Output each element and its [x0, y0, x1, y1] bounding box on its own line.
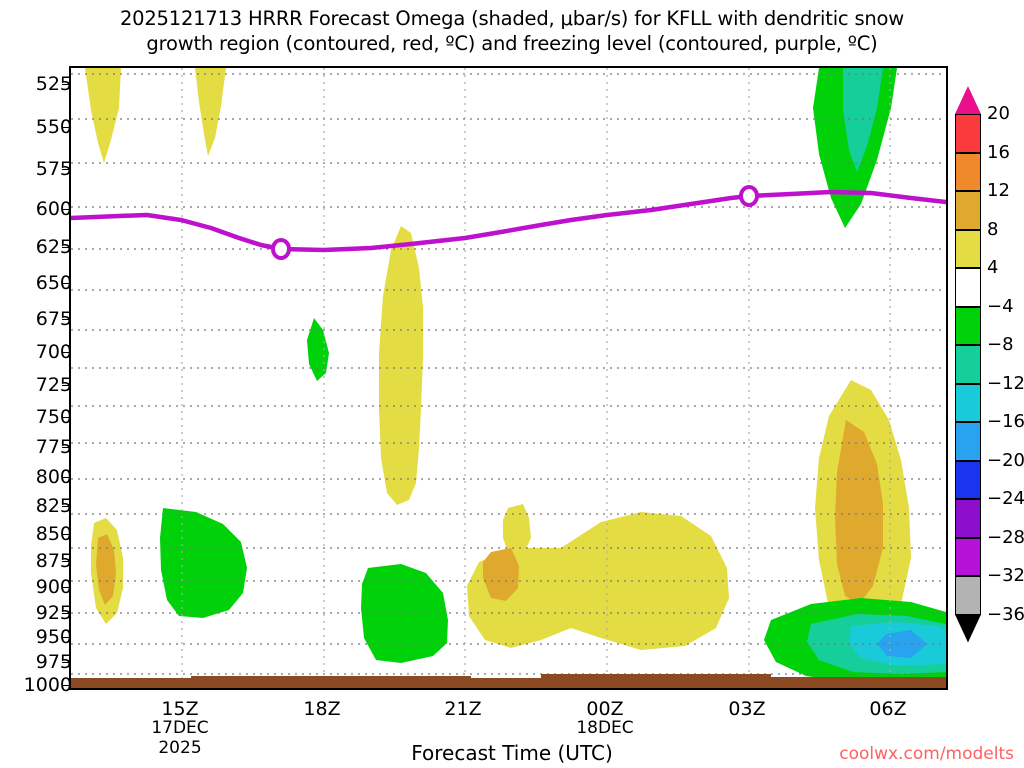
colorbar-band — [955, 422, 981, 461]
y-axis-tick — [62, 613, 69, 614]
colorbar-band — [955, 499, 981, 538]
colorbar-band — [955, 461, 981, 500]
y-axis-tick — [62, 319, 69, 320]
y-axis-tick — [62, 506, 69, 507]
colorbar-band — [955, 268, 981, 307]
colorbar-band — [955, 538, 981, 577]
colorbar-band — [955, 191, 981, 230]
colorbar-tick-label: −12 — [987, 373, 1024, 394]
forecast-cross-section-plot — [69, 66, 948, 690]
y-axis-tick — [62, 587, 69, 588]
y-axis-tick — [62, 84, 69, 85]
omega-shaded-field — [71, 68, 946, 688]
y-axis-tick — [62, 685, 69, 686]
y-axis-tick — [62, 447, 69, 448]
x-axis-tick-label: 15Z — [161, 698, 198, 720]
colorbar-band — [955, 307, 981, 346]
y-axis-tick — [62, 247, 69, 248]
y-axis-tick — [62, 662, 69, 663]
y-axis-tick — [62, 637, 69, 638]
colorbar-tick-label: −32 — [987, 565, 1024, 586]
colorbar-bottom-arrow — [955, 615, 981, 643]
colorbar-tick-label: −20 — [987, 450, 1024, 471]
y-axis-tick — [62, 127, 69, 128]
y-axis-tick — [62, 169, 69, 170]
x-axis-tick-label: 06Z — [869, 698, 906, 720]
colorbar-tick-label: 8 — [987, 219, 998, 240]
x-axis-date-label: 17DEC — [151, 718, 208, 738]
colorbar-tick-label: −8 — [987, 334, 1014, 355]
colorbar-band — [955, 384, 981, 423]
colorbar-band — [955, 576, 981, 615]
y-axis-tick — [62, 283, 69, 284]
colorbar-tick-label: −16 — [987, 411, 1024, 432]
colorbar-band — [955, 114, 981, 153]
x-axis-tick-label: 00Z — [586, 698, 623, 720]
colorbar-tick-label: 20 — [987, 103, 1010, 124]
colorbar-tick-label: −28 — [987, 527, 1024, 548]
y-axis-tick — [62, 417, 69, 418]
colorbar-tick-label: 12 — [987, 180, 1010, 201]
y-axis-tick — [62, 209, 69, 210]
x-axis-date-label: 18DEC — [576, 718, 633, 738]
y-axis-tick — [62, 534, 69, 535]
x-axis-tick-label: 18Z — [303, 698, 340, 720]
colorbar: 20161284−4−8−12−16−20−24−28−32−36 — [955, 86, 981, 664]
colorbar-band — [955, 345, 981, 384]
colorbar-tick-label: −24 — [987, 488, 1024, 509]
y-axis-tick — [62, 477, 69, 478]
colorbar-tick-label: 16 — [987, 142, 1010, 163]
y-axis-tick — [62, 352, 69, 353]
y-axis-tick — [62, 561, 69, 562]
colorbar-tick-label: −4 — [987, 296, 1014, 317]
page-title: 2025121713 HRRR Forecast Omega (shaded, … — [0, 6, 1024, 56]
colorbar-top-arrow — [955, 86, 981, 114]
freezing-level-line — [71, 187, 946, 258]
x-axis-tick-label: 03Z — [728, 698, 765, 720]
colorbar-tick-label: 4 — [987, 257, 998, 278]
x-axis-tick-label: 21Z — [444, 698, 481, 720]
colorbar-tick-label: −36 — [987, 604, 1024, 625]
watermark: coolwx.com/modelts — [839, 744, 1014, 764]
omega-contour-shapes — [85, 68, 946, 682]
y-axis-tick — [62, 385, 69, 386]
colorbar-band — [955, 153, 981, 192]
colorbar-band — [955, 230, 981, 269]
